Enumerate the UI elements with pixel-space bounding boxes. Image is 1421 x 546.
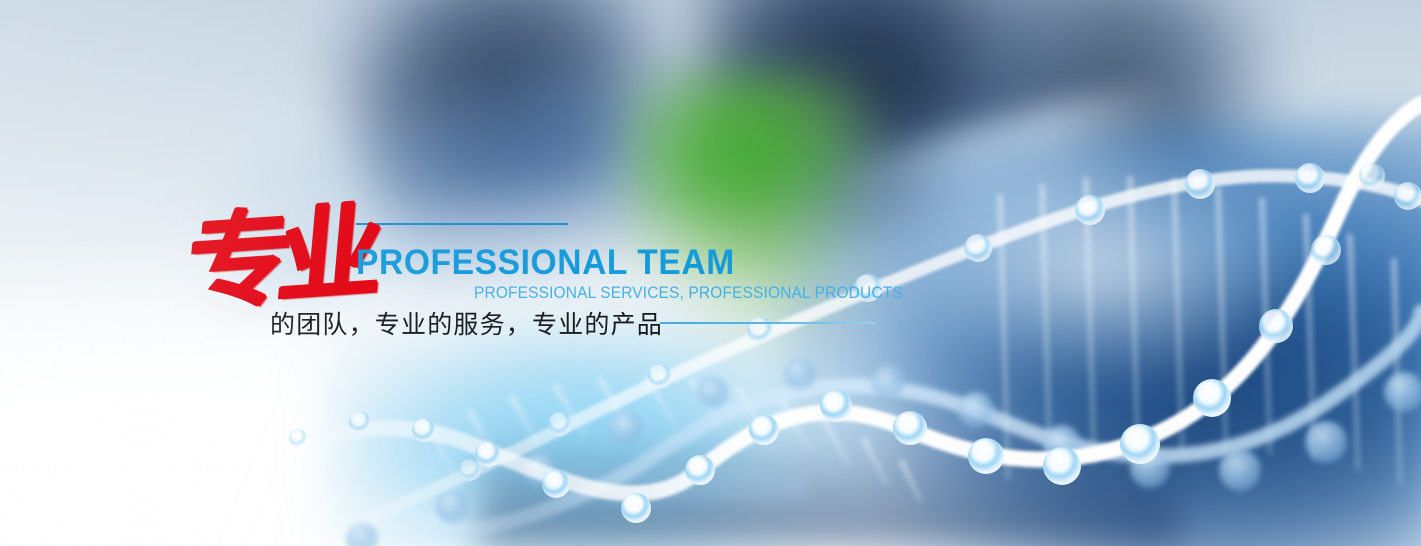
rule-below-tagline: [660, 322, 876, 324]
professional-team-banner: 专业 PROFESSIONAL TEAM PROFESSIONAL SERVIC…: [0, 0, 1421, 546]
subtitle: PROFESSIONAL SERVICES, PROFESSIONAL PROD…: [474, 284, 903, 303]
headline-text-block: 专业 PROFESSIONAL TEAM PROFESSIONAL SERVIC…: [0, 0, 1421, 546]
rule-above-headline: [356, 223, 568, 225]
page-title: PROFESSIONAL TEAM: [356, 243, 735, 283]
tagline-chinese: 的团队，专业的服务，专业的产品: [270, 305, 663, 341]
